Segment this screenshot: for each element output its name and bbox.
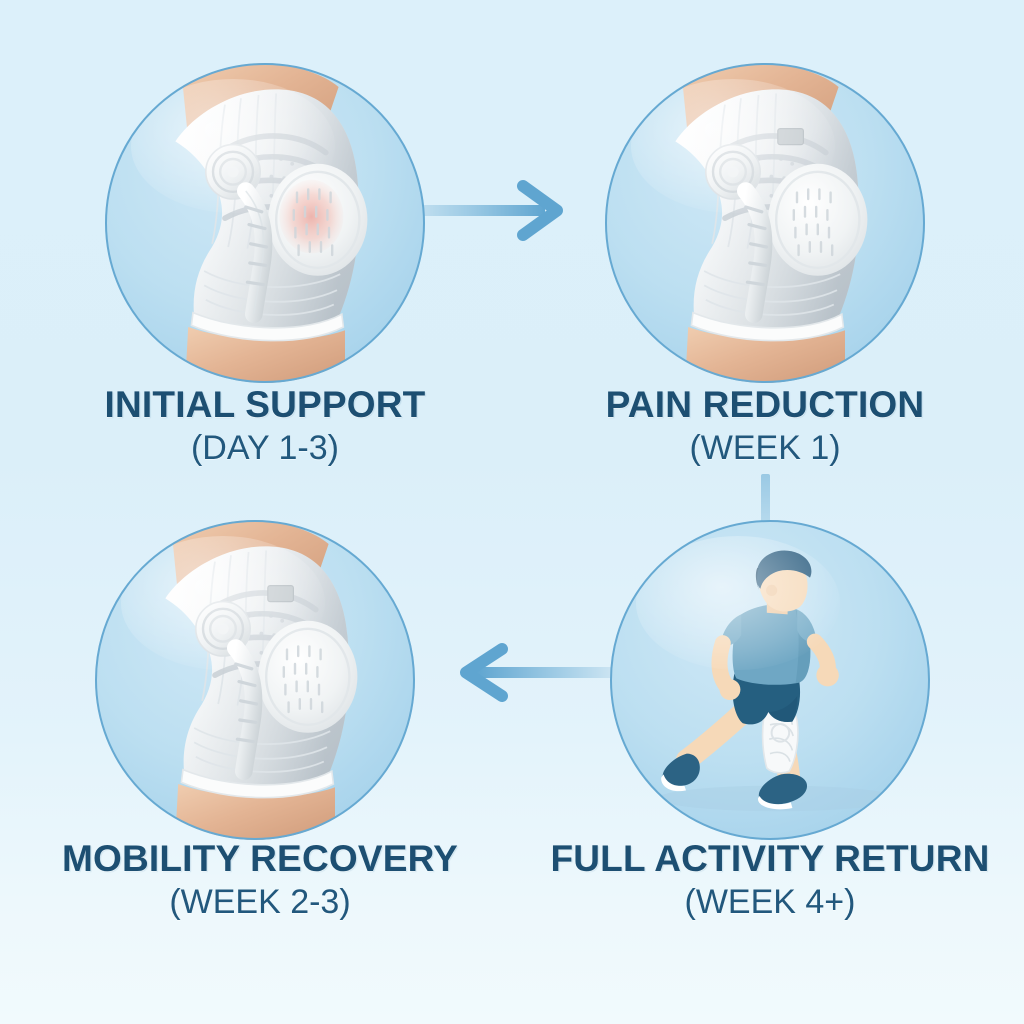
knee-brace-mobility-illustration [95,520,415,840]
step-node-3[interactable] [95,520,415,840]
step-2-circle [605,63,925,383]
step-1-subtitle: (DAY 1-3) [45,431,485,466]
step-node-2[interactable] [605,63,925,383]
knee-brace-calm-illustration [605,63,925,383]
step-4-title: FULL ACTIVITY RETURN [530,840,1010,878]
step-4-subtitle: (WEEK 4+) [530,885,1010,920]
runner-back-shoe [663,754,700,786]
step-2-subtitle: (WEEK 1) [545,431,985,466]
knee-brace-inflamed-illustration [105,63,425,383]
step-4-circle [610,520,930,840]
step-1-title: INITIAL SUPPORT [45,386,485,424]
runner-back-arm [719,643,726,686]
connector-arrow-right [405,176,580,246]
step-3-title: MOBILITY RECOVERY [20,840,500,878]
step-node-1[interactable] [105,63,425,383]
step-1-label: INITIAL SUPPORT (DAY 1-3) [45,386,485,467]
brace-tab-label [268,586,294,602]
step-node-4[interactable] [610,520,930,840]
runner-with-knee-brace-illustration [610,520,930,840]
brace-tab-label [778,129,804,145]
step-3-label: MOBILITY RECOVERY (WEEK 2-3) [20,840,500,921]
connector-arrow-left [440,638,620,708]
step-4-label: FULL ACTIVITY RETURN (WEEK 4+) [530,840,1010,921]
runner-front-hand [816,664,838,686]
step-3-subtitle: (WEEK 2-3) [20,885,500,920]
step-2-label: PAIN REDUCTION (WEEK 1) [545,386,985,467]
infographic-canvas: INITIAL SUPPORT (DAY 1-3) [0,0,1024,1024]
step-2-title: PAIN REDUCTION [545,386,985,424]
step-1-circle [105,63,425,383]
runner-back-hand [720,679,741,700]
step-3-circle [95,520,415,840]
